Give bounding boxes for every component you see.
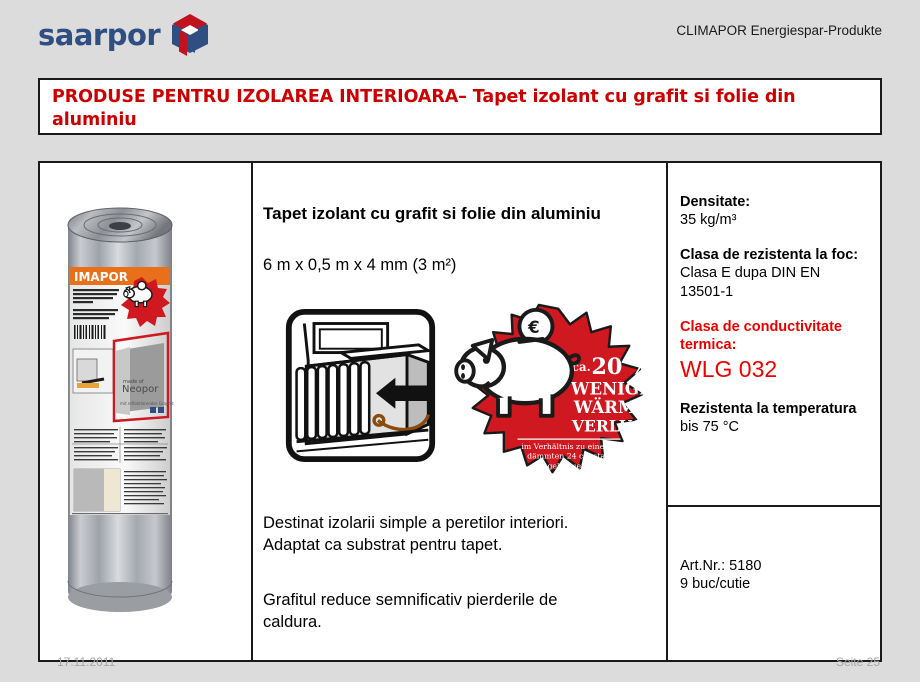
slide-title-band: PRODUSE PENTRU IZOLAREA INTERIOARA– Tape…: [38, 78, 882, 135]
svg-text:IMAPOR: IMAPOR: [74, 270, 128, 284]
badge-percent: 20 %: [591, 354, 651, 380]
fire-class-label: Clasa de rezistenta la foc:: [680, 246, 872, 264]
badge-word2: WÄRME: [573, 397, 649, 417]
fire-class-value-line1: Clasa E dupa DIN EN: [680, 264, 872, 282]
density-label: Densitate:: [680, 193, 872, 211]
svg-text:€: €: [527, 318, 540, 337]
slide: saarpor CLIMAPOR Energiespar-Produkte: [0, 0, 920, 690]
saarpor-diamond-icon: [168, 14, 212, 56]
conductivity-label-line1: Clasa de conductivitate: [680, 318, 872, 336]
product-use-line2: Adaptat ca substrat pentru tapet.: [263, 536, 502, 554]
product-name-line2: aluminiu: [531, 204, 601, 223]
badge-word1: WENIGER: [570, 378, 654, 398]
product-use-line1: Destinat izolarii simple a peretilor int…: [263, 514, 568, 532]
pictogram-row: ca. 20 % WENIGER WÄRME VERLUST im Verhäl…: [259, 303, 659, 478]
energy-saving-badge: ca. 20 % WENIGER WÄRME VERLUST im Verhäl…: [449, 303, 654, 478]
page-title-line1: PRODUSE PENTRU IZOLAREA INTERIOARA– Tape…: [52, 87, 710, 107]
temperature-label: Rezistenta la temperatura: [680, 400, 872, 418]
temperature-value: bis 75 °C: [680, 418, 872, 436]
footer-page-number: Seite 25: [836, 655, 880, 669]
header-product-line-label: CLIMAPOR Energiespar-Produkte: [676, 23, 882, 38]
logo-wordmark: saarpor: [38, 21, 160, 50]
density-value: 35 kg/m³: [680, 211, 872, 229]
page-title: PRODUSE PENTRU IZOLAREA INTERIOARA– Tape…: [52, 86, 870, 132]
saarpor-logo: saarpor: [38, 14, 212, 56]
conductivity-label-line2: termica:: [680, 336, 872, 354]
product-benefit-description: Grafitul reduce semnificativ pierderile …: [263, 590, 655, 634]
badge-fineprint-2: dämmten 24 cm starken: [527, 452, 623, 461]
technical-specs-cell: Densitate: 35 kg/m³ Clasa de rezistenta …: [668, 163, 880, 660]
packaging-quantity: 9 buc/cutie: [680, 575, 872, 593]
radiator-insulation-icon: [283, 305, 438, 467]
svg-text:mit reflektierender Graphit: mit reflektierender Graphit: [120, 401, 174, 406]
badge-fineprint-3: Ziegelmauerwerk: [535, 461, 605, 470]
specs-properties-block: Densitate: 35 kg/m³ Clasa de rezistenta …: [668, 163, 880, 507]
specs-ordering-block: Art.Nr.: 5180 9 buc/cutie: [668, 507, 880, 660]
product-details-cell: Tapet izolant cu grafit si folie din alu…: [253, 163, 668, 660]
badge-word3: VERLUST: [571, 416, 654, 435]
fire-class-value-line2: 13501-1: [680, 283, 872, 301]
product-name-line1: Tapet izolant cu grafit si folie din: [263, 204, 526, 223]
product-image-cell: IMAPOR: [40, 163, 253, 660]
badge-fineprint-1: im Verhältnis zu einem unge-: [521, 442, 636, 451]
content-frame: IMAPOR: [38, 161, 882, 662]
product-benefit-line2: caldura.: [263, 613, 322, 631]
product-name: Tapet izolant cu grafit si folie din alu…: [263, 203, 623, 225]
svg-text:Neopor: Neopor: [122, 384, 159, 395]
article-number: Art.Nr.: 5180: [680, 557, 872, 575]
conductivity-value: WLG 032: [680, 356, 872, 383]
slide-header: saarpor CLIMAPOR Energiespar-Produkte: [0, 0, 920, 64]
product-roll-image: IMAPOR: [60, 201, 180, 621]
product-dimensions: 6 m x 0,5 m x 4 mm (3 m²): [263, 255, 643, 276]
footer-date: 17.11.2011: [57, 655, 115, 669]
product-use-description: Destinat izolarii simple a peretilor int…: [263, 513, 655, 557]
product-benefit-line1: Grafitul reduce semnificativ pierderile …: [263, 591, 557, 609]
